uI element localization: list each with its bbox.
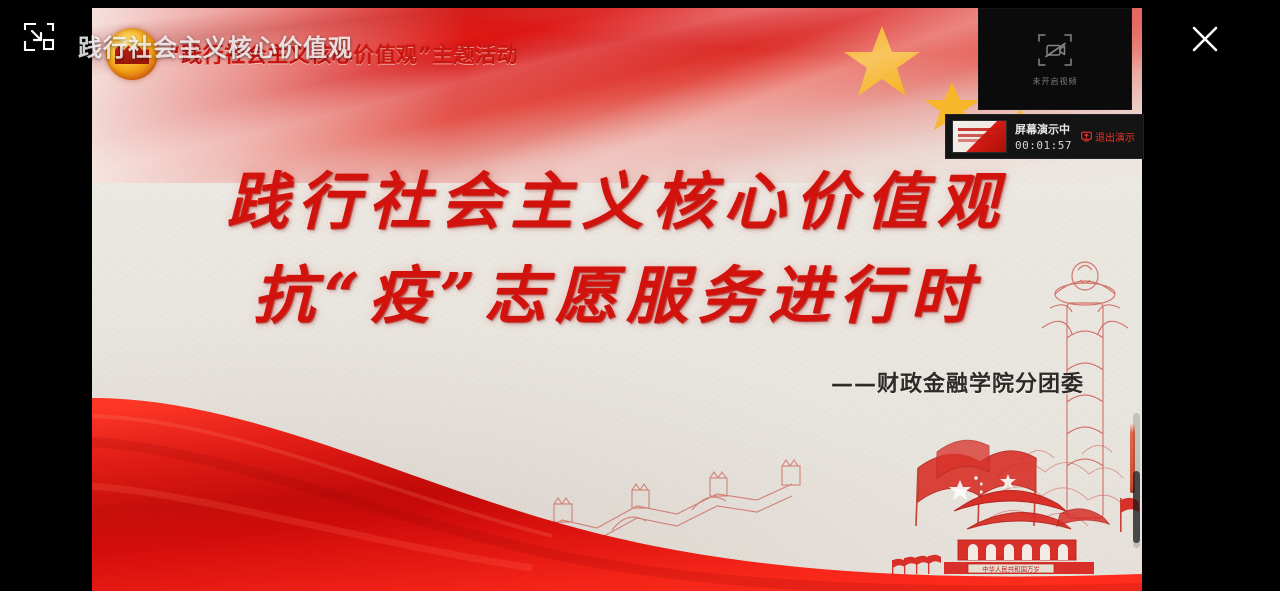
slide-headline: 践行社会主义核心价值观 抗“疫”志愿服务进行时 (92, 158, 1142, 340)
slide-scrollbar[interactable] (1133, 413, 1140, 548)
headline-line-1: 践行社会主义核心价值观 (92, 158, 1142, 246)
close-icon[interactable] (1188, 22, 1222, 56)
slide-attribution: ——财政金融学院分团委 (831, 366, 1084, 398)
camera-off-icon (1036, 31, 1074, 69)
slide-header-title: “践行社会主义核心价值观”主题活动 (167, 39, 518, 69)
communist-youth-league-emblem-icon (106, 28, 158, 80)
presenting-state-label: 屏幕演示中 (1015, 121, 1072, 137)
self-view-label: 未开启视频 (1033, 76, 1078, 87)
self-view-panel[interactable]: 未开启视频 (978, 8, 1132, 110)
presenting-thumbnail (952, 120, 1007, 153)
scrollbar-thumb[interactable] (1133, 471, 1140, 543)
exit-share-icon (1081, 131, 1092, 142)
shrink-to-pip-icon[interactable] (22, 21, 56, 53)
exit-presentation-button[interactable]: 退出演示 (1081, 129, 1137, 144)
exit-presentation-label: 退出演示 (1095, 129, 1135, 144)
slide-header: “践行社会主义核心价值观”主题活动 (106, 28, 518, 80)
headline-line-2: 抗“疫”志愿服务进行时 (92, 252, 1142, 340)
presenting-meta: 屏幕演示中 00:01:57 (1015, 121, 1072, 152)
presenting-timer: 00:01:57 (1015, 139, 1072, 152)
presenting-status-bar[interactable]: 屏幕演示中 00:01:57 退出演示 (945, 114, 1144, 159)
meeting-screen-share-stage: “践行社会主义核心价值观”主题活动 (0, 0, 1280, 591)
presenting-thumbnail-lines (958, 128, 1001, 131)
